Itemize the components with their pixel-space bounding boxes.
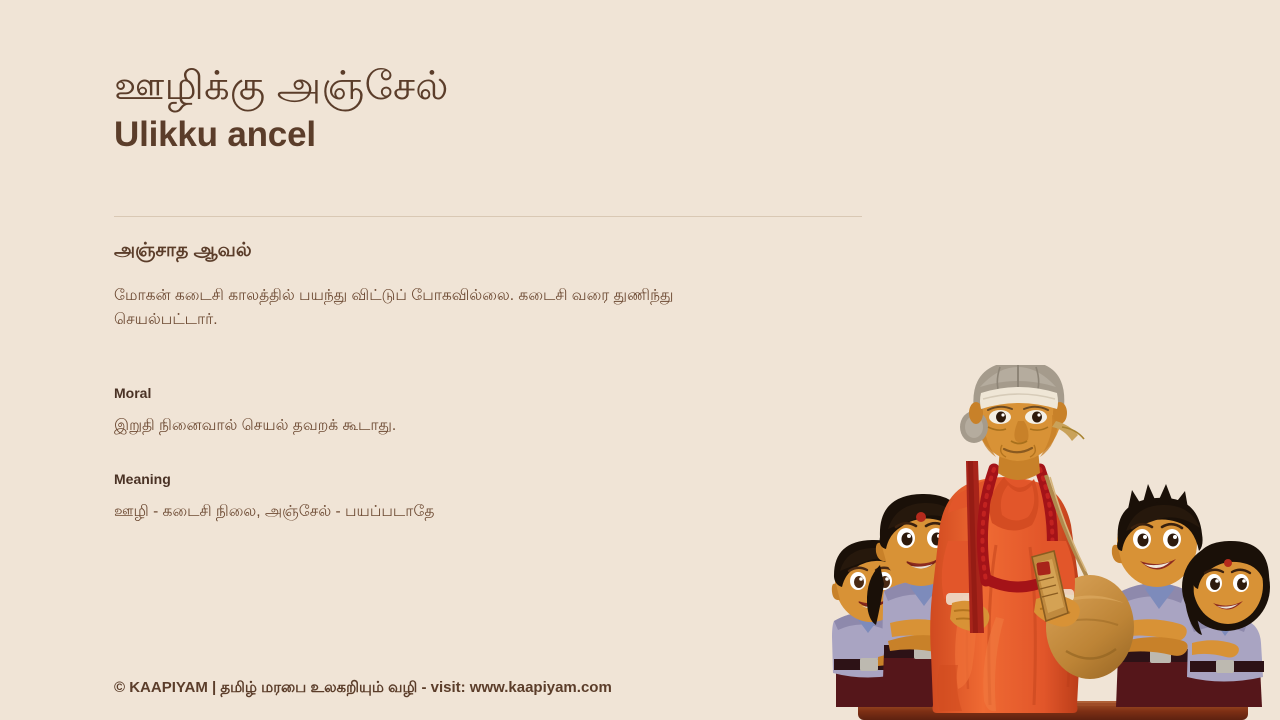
story-heading: அஞ்சாத ஆவல் [114, 240, 252, 264]
moral-label: Moral [114, 385, 151, 401]
child-right-girl [1182, 541, 1270, 707]
page-title-transliteration: Ulikku ancel [114, 115, 874, 155]
meaning-label: Meaning [114, 471, 171, 487]
page-title-tamil: ஊழிக்கு அஞ்சேல் [114, 62, 874, 111]
story-body: மோகன் கடைசி காலத்தில் பயந்து விட்டுப் போ… [114, 284, 764, 332]
sage-figure [930, 365, 1134, 713]
illustration-svg [818, 365, 1280, 720]
poster-page: ஊழிக்கு அஞ்சேல் Ulikku ancel அஞ்சாத ஆவல்… [0, 0, 1280, 720]
meaning-text: ஊழி - கடைசி நிலை, அஞ்சேல் - பயப்படாதே [114, 500, 434, 523]
header-divider [114, 216, 862, 217]
header-block: ஊழிக்கு அஞ்சேல் Ulikku ancel [114, 62, 874, 155]
moral-text: இறுதி நினைவால் செயல் தவறக் கூடாது. [114, 414, 396, 437]
sage-with-children-illustration [818, 365, 1280, 720]
footer-credit: © KAAPIYAM | தமிழ் மரபை உலகறியும் வழி - … [114, 679, 612, 698]
